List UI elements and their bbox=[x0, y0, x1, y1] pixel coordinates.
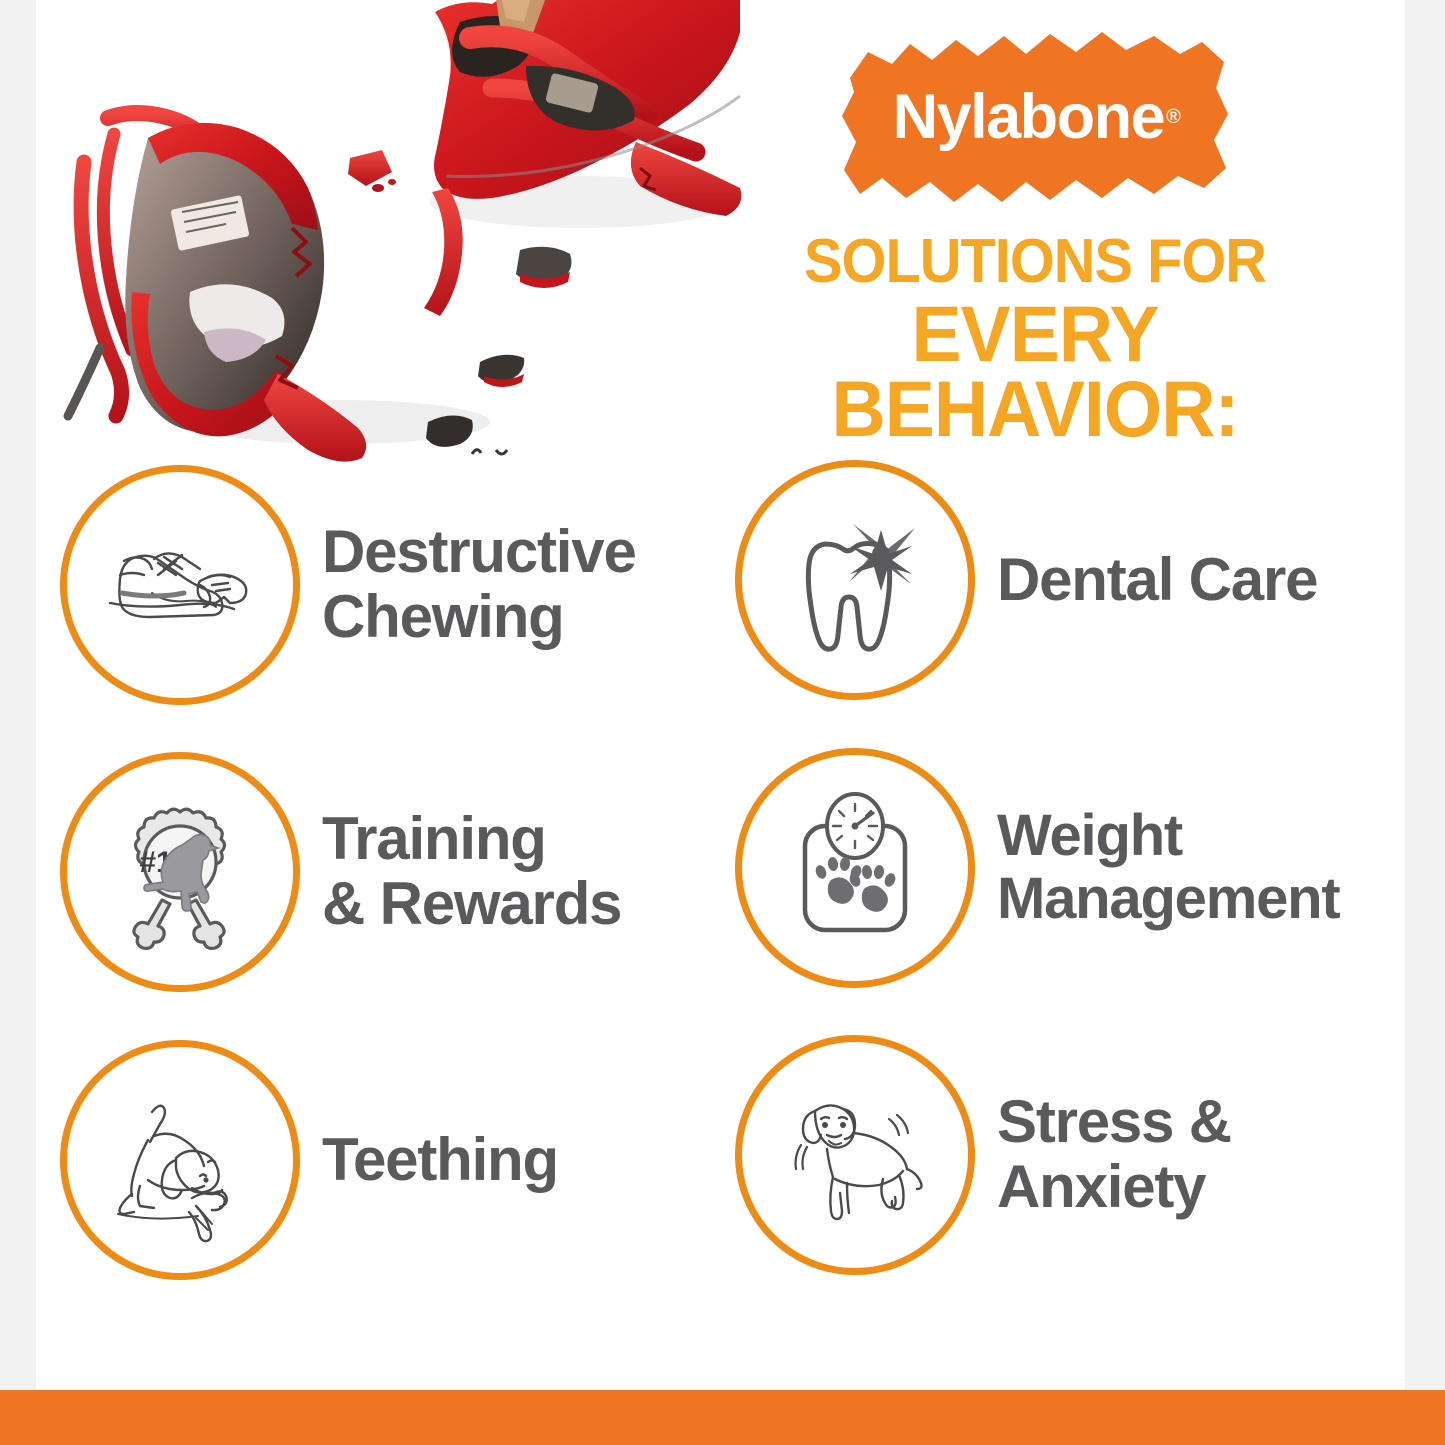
award-ribbon-dog-icon: #1 bbox=[96, 788, 264, 956]
feature-destructive-chewing[interactable]: Destructive Chewing bbox=[60, 465, 636, 705]
icon-ring bbox=[735, 1035, 975, 1275]
icon-ring bbox=[735, 460, 975, 700]
chewed-shoes-photo bbox=[40, 0, 760, 492]
anxious-dog-icon bbox=[771, 1071, 939, 1239]
nylabone-logo: Nylabone® bbox=[836, 22, 1236, 212]
bottom-accent-bar bbox=[0, 1390, 1445, 1445]
feature-weight-management[interactable]: Weight Management bbox=[735, 748, 1340, 988]
puppy-chewing-toy-icon bbox=[96, 1076, 264, 1244]
page-title: SOLUTIONS FOR EVERY BEHAVIOR: bbox=[690, 232, 1380, 447]
scale-paw-prints-icon bbox=[771, 784, 939, 952]
feature-dental-care[interactable]: Dental Care bbox=[735, 460, 1317, 700]
feature-label: Weight Management bbox=[997, 805, 1340, 930]
feature-teething[interactable]: Teething bbox=[60, 1040, 558, 1280]
infographic-page: Nylabone® SOLUTIONS FOR EVERY BEHAVIOR: bbox=[0, 0, 1445, 1445]
icon-ring bbox=[60, 1040, 300, 1280]
sparkling-tooth-icon bbox=[771, 496, 939, 664]
feature-training-rewards[interactable]: #1 Training & Rewards bbox=[60, 752, 621, 992]
icon-ring bbox=[60, 465, 300, 705]
feature-label: Training & Rewards bbox=[322, 807, 621, 937]
feature-label: Dental Care bbox=[997, 548, 1317, 613]
feature-label: Stress & Anxiety bbox=[997, 1090, 1231, 1220]
icon-ring bbox=[735, 748, 975, 988]
feature-stress-anxiety[interactable]: Stress & Anxiety bbox=[735, 1035, 1231, 1275]
chewed-shoe-icon bbox=[96, 501, 264, 669]
headline-line-1: SOLUTIONS FOR bbox=[714, 232, 1356, 292]
feature-label: Destructive Chewing bbox=[322, 520, 636, 650]
headline-line-2: EVERY BEHAVIOR: bbox=[707, 296, 1363, 448]
icon-ring: #1 bbox=[60, 752, 300, 992]
feature-label: Teething bbox=[322, 1128, 558, 1193]
